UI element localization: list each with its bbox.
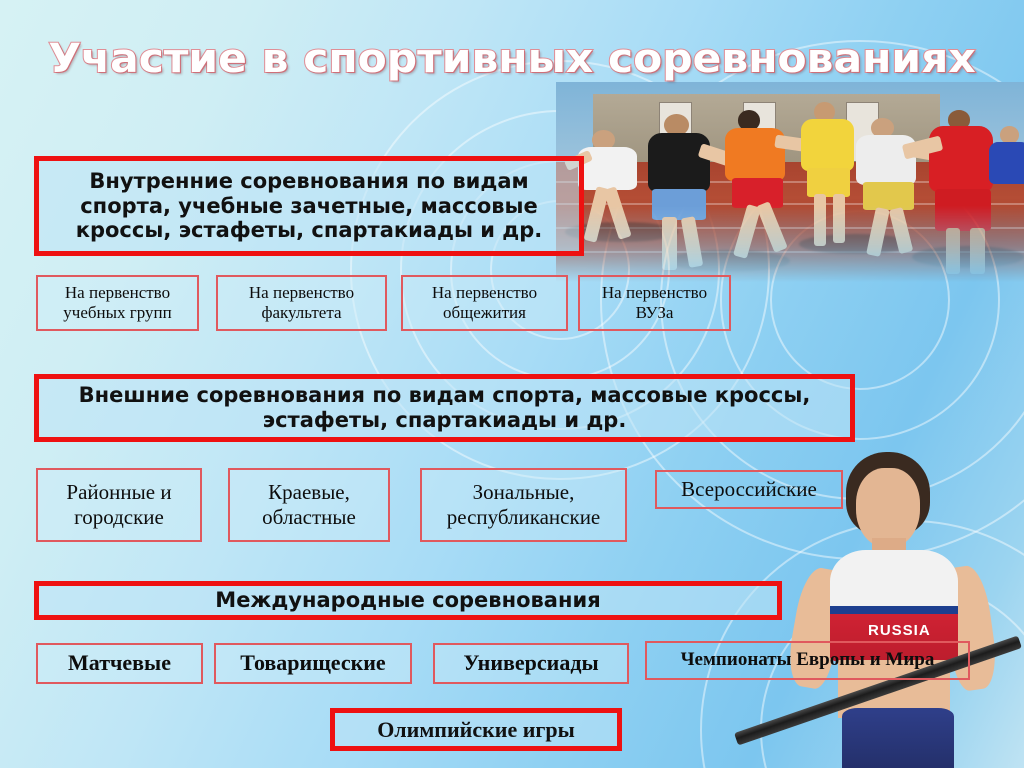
photo-runner <box>987 126 1024 238</box>
item-external-4[interactable]: Всероссийские <box>655 470 843 509</box>
runners-on-track-photo <box>556 82 1024 282</box>
section-header-external: Внешние соревнования по видам спорта, ма… <box>34 374 855 442</box>
item-international-4[interactable]: Чемпионаты Европы и Мира <box>645 641 970 680</box>
section-header-internal: Внутренние соревнования по видам спорта,… <box>34 156 584 256</box>
vaulter-shorts <box>842 708 954 768</box>
item-international-3[interactable]: Универсиады <box>433 643 629 684</box>
item-external-3[interactable]: Зональные, республиканские <box>420 468 627 542</box>
item-internal-4[interactable]: На первенство ВУЗа <box>578 275 731 331</box>
slide-title: Участие в спортивных соревнованиях <box>0 36 1024 82</box>
item-external-2[interactable]: Краевые, областные <box>228 468 390 542</box>
item-international-1[interactable]: Матчевые <box>36 643 203 684</box>
vaulter-face <box>856 468 920 548</box>
section-header-international: Международные соревнования <box>34 581 782 620</box>
item-internal-3[interactable]: На первенство общежития <box>401 275 568 331</box>
vaulter-jersey-text: RUSSIA <box>868 622 931 639</box>
item-external-1[interactable]: Районные и городские <box>36 468 202 542</box>
item-internal-2[interactable]: На первенство факультета <box>216 275 387 331</box>
slide-canvas: RUSSIA Участие в спортивных соревнования… <box>0 0 1024 768</box>
item-internal-1[interactable]: На первенство учебных групп <box>36 275 199 331</box>
item-international-2[interactable]: Товарищеские <box>214 643 412 684</box>
item-international-5[interactable]: Олимпийские игры <box>330 708 622 751</box>
